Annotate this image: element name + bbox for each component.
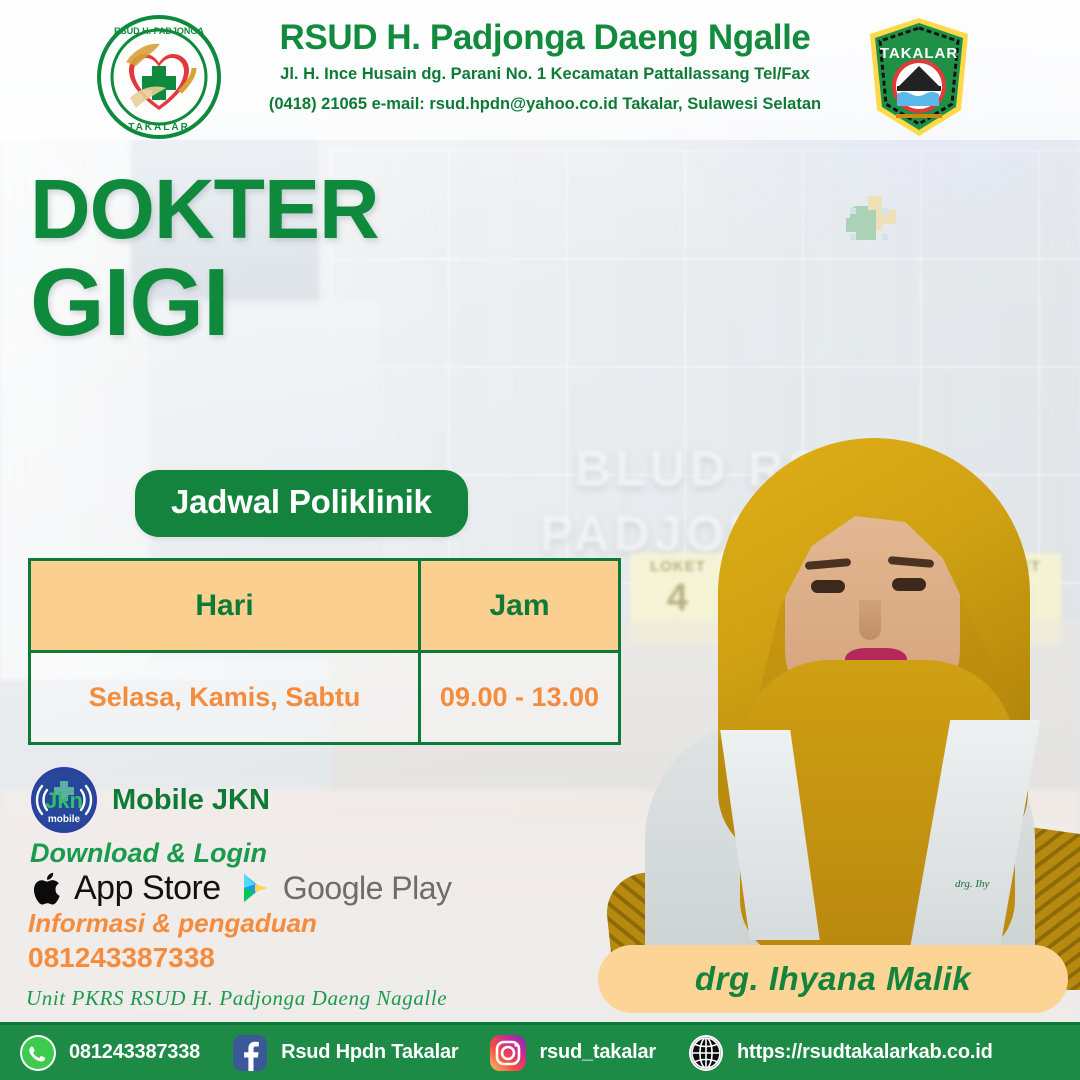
- jadwal-poliklinik-badge: Jadwal Poliklinik: [135, 470, 468, 537]
- store-badges: App Store Google Play: [28, 868, 452, 908]
- footer-facebook[interactable]: Rsud Hpdn Takalar: [230, 1033, 458, 1073]
- column-header-hari: Hari: [30, 560, 420, 652]
- informasi-phone-number: 081243387338: [28, 942, 215, 974]
- app-store-label: App Store: [74, 869, 221, 908]
- column-header-jam: Jam: [420, 560, 620, 652]
- rsud-hpdn-logo: RSUD H. PADJONGA TAKALAR: [96, 14, 222, 140]
- svg-text:Jkn: Jkn: [45, 788, 83, 813]
- cell-jam: 09.00 - 13.00: [420, 652, 620, 744]
- doctor-eye-right: [892, 578, 926, 591]
- poster-header: RSUD H. PADJONGA TAKALAR RSUD H. Padjong…: [0, 0, 1080, 140]
- globe-icon: [686, 1033, 726, 1073]
- poster-canvas: BLUD RSUD PADJONGA DG LOKET 4 LOKET 5 dr…: [0, 0, 1080, 1080]
- header-address-line1: Jl. H. Ince Husain dg. Parani No. 1 Keca…: [240, 63, 850, 87]
- mobile-jkn-row: Jkn mobile Mobile JKN: [30, 766, 270, 834]
- header-text-block: RSUD H. Padjonga Daeng Ngalle Jl. H. Inc…: [240, 20, 850, 117]
- title-line-1: DOKTER: [30, 168, 379, 250]
- footer-whatsapp[interactable]: 081243387338: [18, 1033, 200, 1073]
- header-address-line2: (0418) 21065 e-mail: rsud.hpdn@yahoo.co.…: [240, 93, 850, 117]
- footer-website[interactable]: https://rsudtakalarkab.co.id: [686, 1033, 993, 1073]
- footer-instagram-handle: rsud_takalar: [539, 1041, 656, 1064]
- footer-instagram[interactable]: rsud_takalar: [488, 1033, 656, 1073]
- svg-text:RSUD H. PADJONGA: RSUD H. PADJONGA: [114, 26, 204, 36]
- medical-cross-icon: [830, 188, 900, 258]
- doctor-nose: [859, 600, 881, 640]
- download-login-label: Download & Login: [30, 838, 267, 869]
- whatsapp-icon: [18, 1033, 58, 1073]
- doctor-photo: drg. Ihy: [600, 400, 1080, 990]
- poster-footer: 081243387338 Rsud Hpdn Takalar: [0, 1022, 1080, 1080]
- table-header-row: Hari Jam: [30, 560, 620, 652]
- doctor-name-banner: drg. Ihyana Malik: [598, 945, 1068, 1013]
- informasi-pengaduan-label: Informasi & pengaduan: [28, 908, 317, 939]
- mobile-jkn-label: Mobile JKN: [112, 784, 270, 817]
- schedule-table: Hari Jam Selasa, Kamis, Sabtu 09.00 - 13…: [28, 558, 621, 745]
- mobile-jkn-icon: Jkn mobile: [30, 766, 98, 834]
- google-play-badge[interactable]: Google Play: [235, 868, 452, 908]
- footer-facebook-name: Rsud Hpdn Takalar: [281, 1041, 458, 1064]
- unit-pkrs-credit: Unit PKRS RSUD H. Padjonga Daeng Nagalle: [26, 986, 447, 1011]
- instagram-icon: [488, 1033, 528, 1073]
- footer-website-url: https://rsudtakalarkab.co.id: [737, 1041, 993, 1064]
- doctor-eye-left: [811, 580, 845, 593]
- doctor-coat-embroidery: drg. Ihy: [955, 878, 1025, 892]
- google-play-icon: [235, 868, 275, 908]
- svg-text:TAKALAR: TAKALAR: [128, 122, 190, 133]
- facebook-icon: [230, 1033, 270, 1073]
- cell-hari: Selasa, Kamis, Sabtu: [30, 652, 420, 744]
- apple-icon: [28, 868, 68, 908]
- svg-text:mobile: mobile: [48, 814, 81, 825]
- poster-title-block: DOKTER GIGI: [30, 168, 379, 352]
- app-store-badge[interactable]: App Store: [28, 868, 221, 908]
- takalar-emblem: TAKALAR: [856, 14, 982, 140]
- page-title: RSUD H. Padjonga Daeng Ngalle: [240, 20, 850, 57]
- google-play-label: Google Play: [283, 870, 452, 907]
- title-line-2: GIGI: [30, 254, 379, 352]
- table-row: Selasa, Kamis, Sabtu 09.00 - 13.00: [30, 652, 620, 744]
- doctor-name: drg. Ihyana Malik: [695, 960, 971, 998]
- footer-whatsapp-number: 081243387338: [69, 1041, 200, 1064]
